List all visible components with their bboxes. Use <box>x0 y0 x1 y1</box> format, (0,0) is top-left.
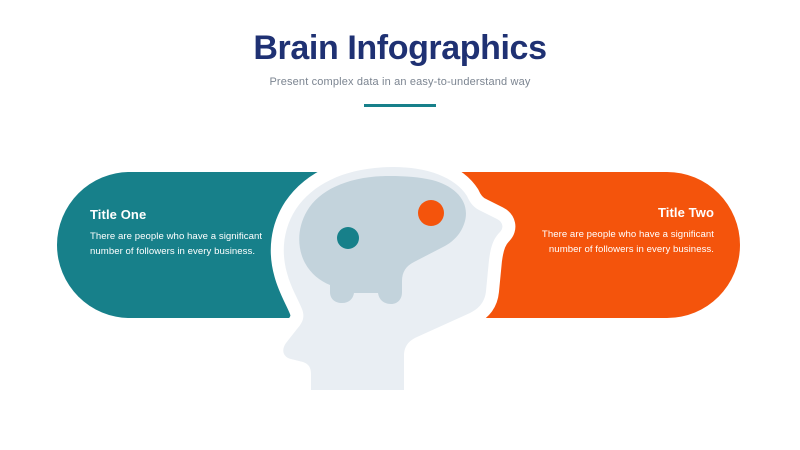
panel-left-body: There are people who have a significant … <box>90 229 265 260</box>
brain-dot-right <box>418 200 444 226</box>
slide-canvas: Brain Infographics Present complex data … <box>0 0 800 450</box>
panel-right-body: There are people who have a significant … <box>536 227 714 258</box>
panel-left-title: Title One <box>90 208 265 223</box>
brain-dot-left <box>337 227 359 249</box>
panel-right-content: Title Two There are people who have a si… <box>536 206 714 258</box>
panel-right-title: Title Two <box>536 206 714 221</box>
panel-left-content: Title One There are people who have a si… <box>90 208 265 260</box>
